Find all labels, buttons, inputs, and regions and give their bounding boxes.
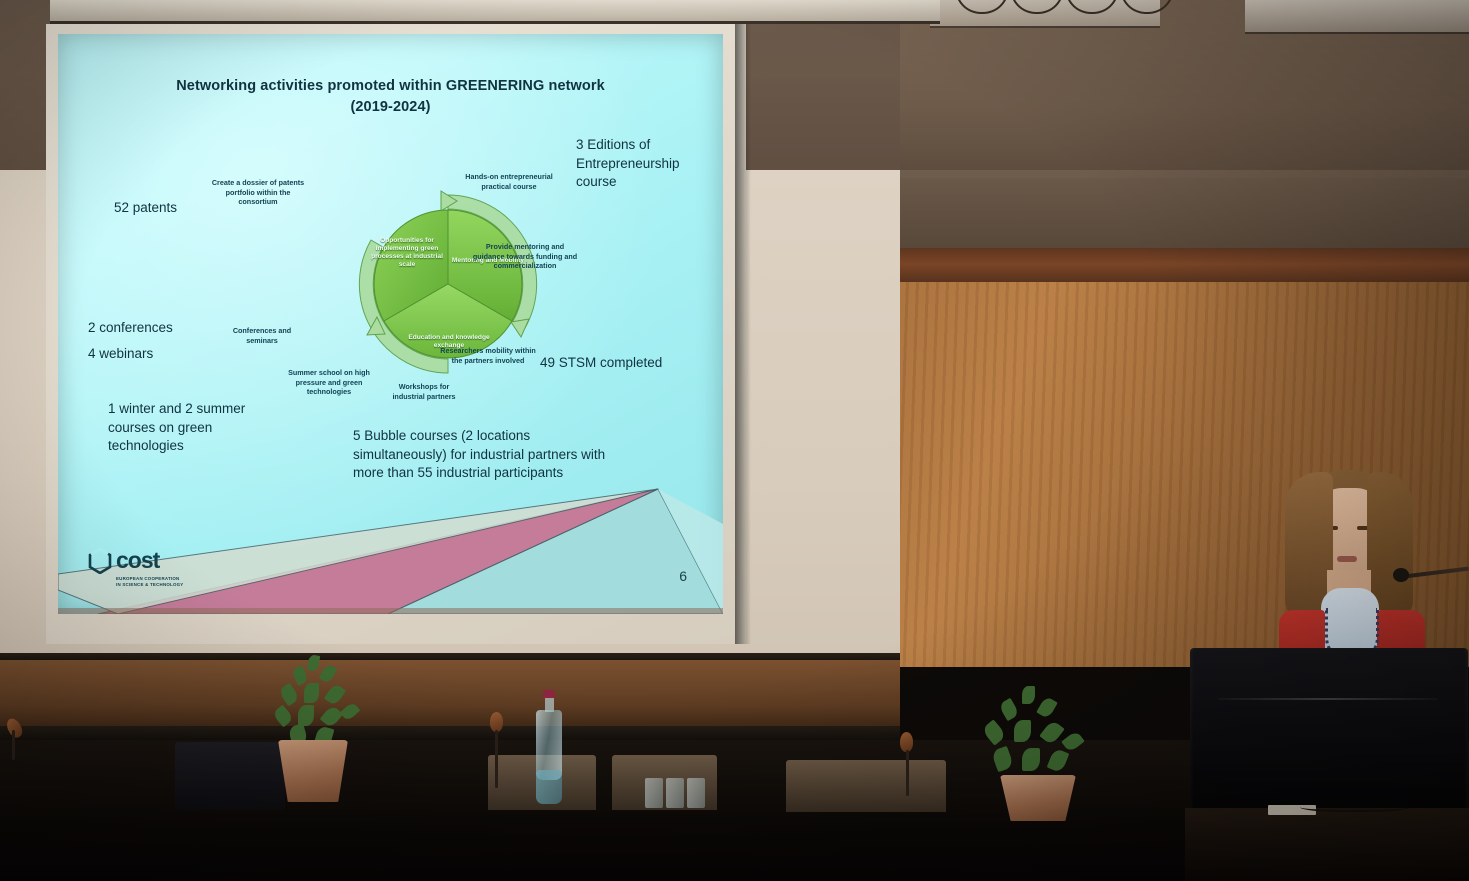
callout-courses: 1 winter and 2 summer courses on green t… <box>108 400 276 456</box>
water-bottle-lower <box>536 770 562 804</box>
cost-logo: cost EUROPEAN COOPERATION IN SCIENCE & T… <box>88 548 198 589</box>
conference-room-photo: Networking activities promoted within GR… <box>0 0 1469 881</box>
podium-microphone-head <box>1393 568 1409 582</box>
drinking-glass <box>666 778 684 808</box>
cost-tagline-line1: EUROPEAN COOPERATION <box>116 576 198 583</box>
projection-screen-roller <box>50 0 940 24</box>
cost-wordmark: cost <box>116 549 159 572</box>
drinking-glass <box>645 778 663 808</box>
microphone-head <box>900 732 913 752</box>
slide-title-line2: (2019-2024) <box>58 97 723 118</box>
cost-tagline-line2: IN SCIENCE & TECHNOLOGY <box>116 582 198 589</box>
slide-page-number: 6 <box>679 568 687 584</box>
microphone-stand <box>906 750 909 796</box>
bottle-cap <box>543 690 555 698</box>
annotation-workshops: Workshops for industrial partners <box>383 382 465 401</box>
callout-entrepreneurship: 3 Editions of Entrepreneurship course <box>576 136 711 192</box>
segment-label-opportunities: Opportunities for implementing green pro… <box>365 237 449 269</box>
monitor-bezel-highlight <box>1218 698 1438 700</box>
drinking-glass <box>687 778 705 808</box>
podium-monitor <box>1190 648 1468 814</box>
slide-title-line1: Networking activities promoted within GR… <box>58 76 723 97</box>
annotation-summer-school: Summer school on high pressure and green… <box>286 368 372 397</box>
panel-table-front <box>0 660 900 730</box>
callout-bubble-courses: 5 Bubble courses (2 locations simultaneo… <box>353 427 623 483</box>
callout-webinars: 4 webinars <box>88 345 238 364</box>
callout-patents: 52 patents <box>114 199 244 218</box>
annotation-handson: Hands-on entrepreneurial practical cours… <box>463 172 555 191</box>
panel-chair <box>786 760 946 812</box>
callout-conferences: 2 conferences <box>88 319 238 338</box>
right-wall-panel <box>898 178 1469 248</box>
annotation-researcher-mobility: Researchers mobility within the partners… <box>440 346 536 365</box>
projector-screen-housing-right <box>1245 0 1469 34</box>
callout-stsm: 49 STSM completed <box>540 354 700 373</box>
microphone-stand <box>12 730 15 760</box>
microphone-head <box>490 712 503 732</box>
cost-hexagon-icon <box>88 548 112 574</box>
screen-edge-shadow <box>735 24 751 644</box>
projected-slide: Networking activities promoted within GR… <box>58 34 723 614</box>
slide-title: Networking activities promoted within GR… <box>58 76 723 118</box>
wood-trim-band <box>896 248 1469 284</box>
plant-pot <box>278 740 348 802</box>
plant-pot <box>1000 775 1076 821</box>
podium-cable <box>1300 800 1410 812</box>
annotation-guidance: Provide mentoring and guidance towards f… <box>470 242 580 271</box>
microphone-stand <box>495 730 498 788</box>
presenter-mouth <box>1337 556 1357 562</box>
podium-desk <box>1185 808 1469 881</box>
